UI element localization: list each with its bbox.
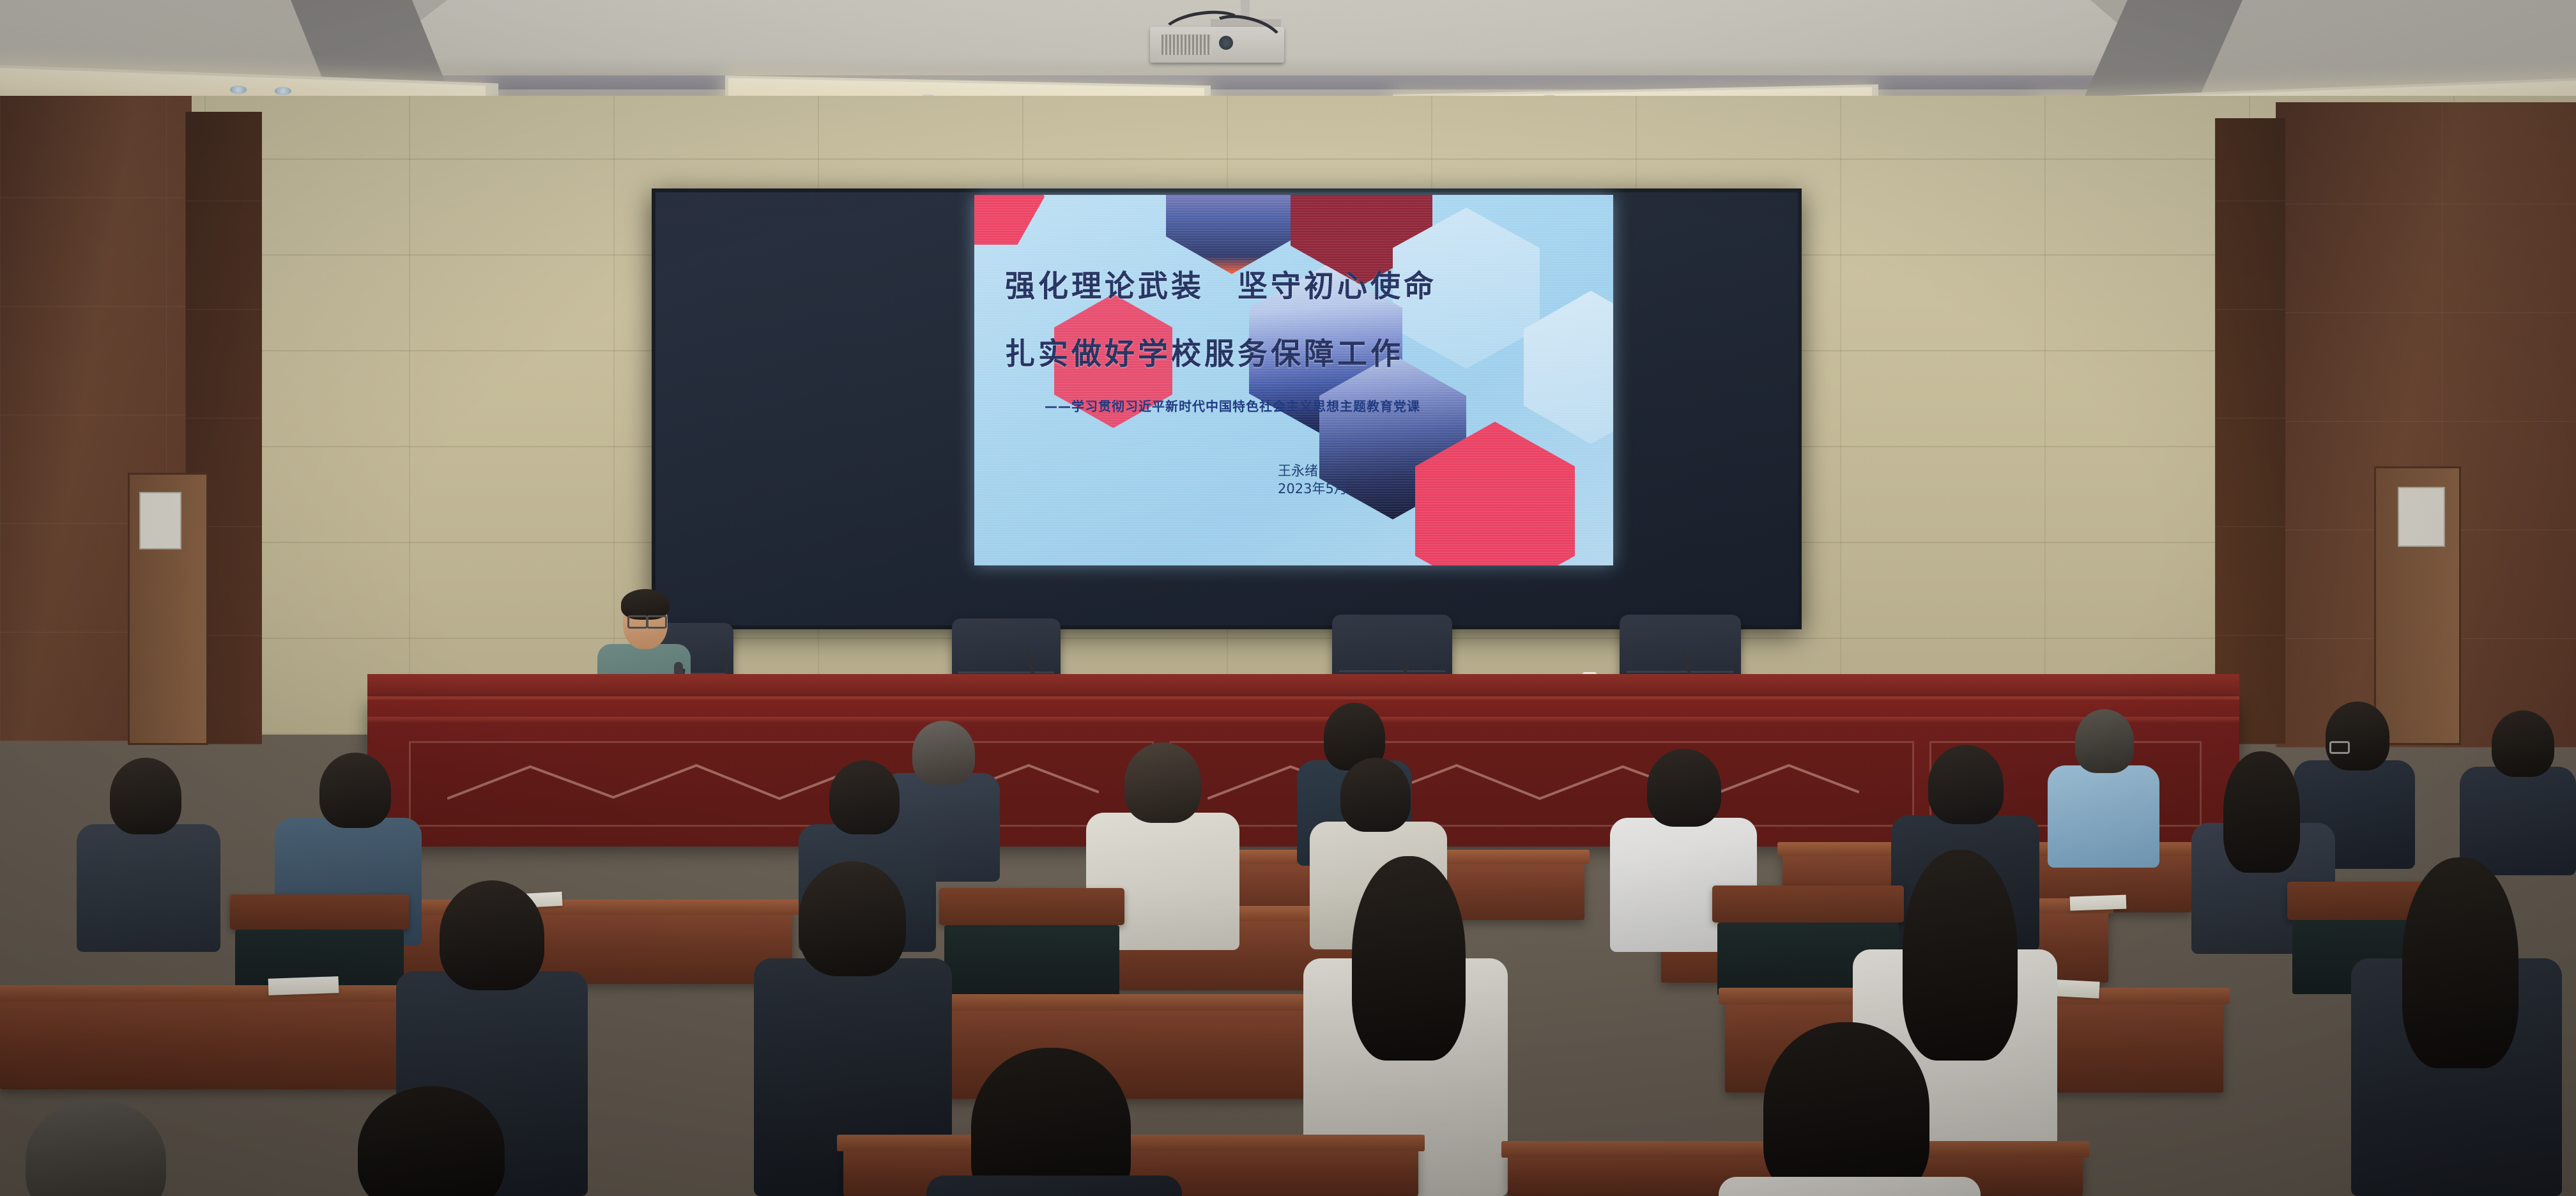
slide-title-line-2: 扎实做好学校服务保障工作 — [1005, 329, 1452, 373]
presentation-slide[interactable]: 强化理论武装 坚守初心使命 扎实做好学校服务保障工作 ——学习贯彻习近平新时代中… — [974, 195, 1613, 565]
foreground-person-body — [1719, 1177, 1981, 1196]
door-sign-right — [2398, 487, 2445, 547]
audience-glasses-icon — [2329, 741, 2350, 754]
speaker-glasses-icon — [647, 615, 667, 629]
ceiling-spotlight-icon — [275, 87, 291, 95]
audience-desk-top — [0, 985, 415, 1002]
audience-person-body — [2048, 765, 2159, 868]
audience-paper — [2070, 894, 2127, 910]
audience-paper — [268, 976, 339, 995]
lecture-hall-scene: 强化理论武装 坚守初心使命 扎实做好学校服务保障工作 ——学习贯彻习近平新时代中… — [0, 0, 2576, 1196]
foreground-bench-top — [837, 1135, 1425, 1151]
audience-desk — [0, 993, 409, 1089]
audience-chair[interactable] — [939, 888, 1124, 925]
audience-person-hair — [1928, 745, 2004, 824]
audience-person-hair — [2402, 857, 2518, 1068]
audience-desk-top — [377, 900, 799, 915]
podium-rail — [367, 717, 2239, 723]
audience-person-hair — [110, 758, 181, 834]
slide-title-line-1: 强化理论武装 坚守初心使命 — [1005, 261, 1414, 305]
audience-person-hair — [1903, 850, 2018, 1061]
slide-subtitle: ——学习贯彻习近平新时代中国特色社会主义思想主题教育党课 — [1045, 396, 1420, 415]
speaker-glasses-icon — [627, 615, 648, 629]
audience-person-hair — [1647, 749, 1721, 827]
podium-zigzag-motif — [447, 760, 1099, 805]
audience-person-hair — [2326, 701, 2389, 770]
audience-person-hair — [829, 760, 900, 834]
audience-person-hair — [440, 880, 544, 990]
audience-chair[interactable] — [230, 894, 409, 930]
audience-person-hair — [1352, 856, 1466, 1061]
audience-chair-seat — [944, 925, 1119, 997]
audience-person-hair — [319, 753, 391, 828]
audience-person-hair — [2075, 709, 2134, 773]
audience-person-hair — [912, 721, 975, 785]
foreground-person-hair — [1763, 1022, 1929, 1196]
wood-grain — [2215, 118, 2285, 744]
ceiling-center-edge — [383, 75, 2191, 89]
ceiling-spotlight-icon — [230, 86, 247, 94]
audience-person-hair — [2492, 710, 2554, 777]
slide-date: 2023年5月 — [1278, 480, 1347, 498]
audience-person-hair — [1124, 742, 1201, 823]
slide-author-block: 王永绪 2023年5月 — [1278, 462, 1347, 498]
audience-person-hair — [2223, 751, 2300, 873]
right-wood-wall-inner — [2215, 118, 2285, 744]
audience-person-hair — [799, 861, 906, 976]
door-sign-left — [139, 492, 181, 549]
foreground-person-body — [926, 1176, 1182, 1196]
audience-person-body — [2460, 767, 2576, 875]
audience-chair[interactable] — [1712, 885, 1904, 923]
podium-desk-top — [367, 674, 2239, 700]
slide-author-name: 王永绪 — [1278, 462, 1347, 480]
foreground-person-hair — [971, 1048, 1131, 1196]
audience-person-hair — [1340, 758, 1411, 832]
audience-person-body — [77, 824, 220, 952]
ceiling-center-slab — [383, 0, 2191, 82]
hexagon-pink-topleft — [974, 195, 1045, 245]
foreground-person-hair — [26, 1099, 166, 1196]
